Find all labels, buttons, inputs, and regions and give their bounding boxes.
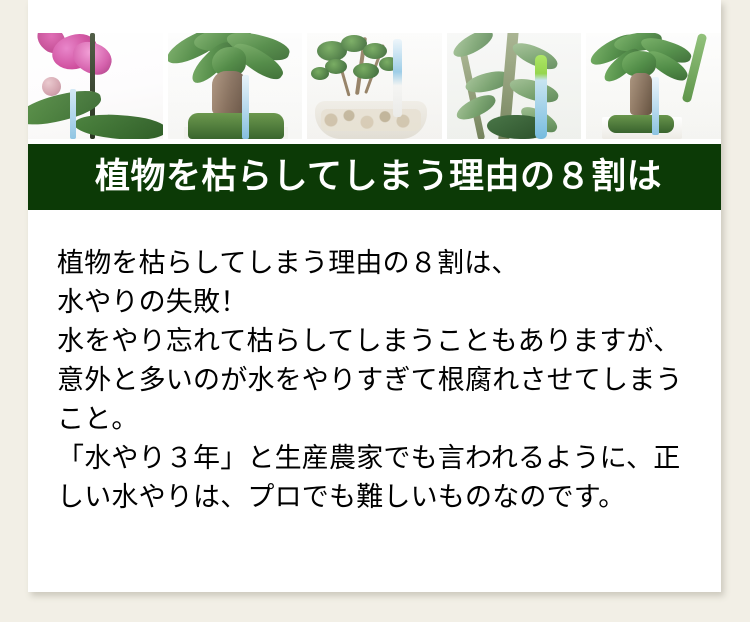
body-line: 水をやり忘れて枯らしてしまうこともありますが、 [57,322,697,361]
photo-strip [28,33,721,139]
photo-succulent-closeup-with-green-cap-gauge [447,33,582,139]
water-gauge-icon [652,77,659,135]
page-root: 植物を枯らしてしまう理由の８割は 植物を枯らしてしまう理由の８割は、 水やりの失… [0,0,750,622]
moss-ball-shape [188,113,284,139]
succulent-leaf-shape [449,33,496,62]
water-gauge-icon [70,89,76,139]
page-title: 植物を枯らしてしまう理由の８割は [28,160,662,195]
body-line: しい水やりは、プロでも難しいものなのです。 [57,478,697,517]
plant-trunk-shape [212,71,246,115]
content-card: 植物を枯らしてしまう理由の８割は 植物を枯らしてしまう理由の８割は、 水やりの失… [28,0,721,592]
water-gauge-icon [393,39,402,117]
water-gauge-icon [242,75,249,139]
body-line: 植物を枯らしてしまう理由の８割は、 [57,244,697,283]
plant-trunk-shape [630,73,652,115]
foliage-shape [363,43,387,59]
foliage-shape [353,63,379,79]
succulent-leaf-shape [507,74,560,106]
plant-stem-shape [682,33,708,103]
photo-bonsai-in-pebble-bowl-with-gauge [307,33,442,139]
orchid-bud-shape [42,77,61,96]
body-copy: 植物を枯らしてしまう理由の８割は、 水やりの失敗！ 水をやり忘れて枯らしてしまう… [57,244,697,517]
photo-orchid-with-water-gauge [28,33,163,139]
body-line: 水やりの失敗！ [57,283,697,322]
headline-banner: 植物を枯らしてしまう理由の８割は [28,144,721,210]
body-line: 「水やり３年」と生産農家でも言われるように、正 [57,439,697,478]
water-gauge-icon [535,55,547,139]
photo-pachira-on-moss-with-gauge [168,33,303,139]
body-line: 意外と多いのが水をやりすぎて根腐れさせてしまう [57,361,697,400]
plant-leaf-shape [73,110,163,139]
photo-pachira-in-square-pot-with-gauge [586,33,721,139]
body-line: こと。 [57,400,697,439]
foliage-shape [311,67,329,80]
pebbles-shape [321,109,421,131]
moss-ball-shape [608,115,674,133]
